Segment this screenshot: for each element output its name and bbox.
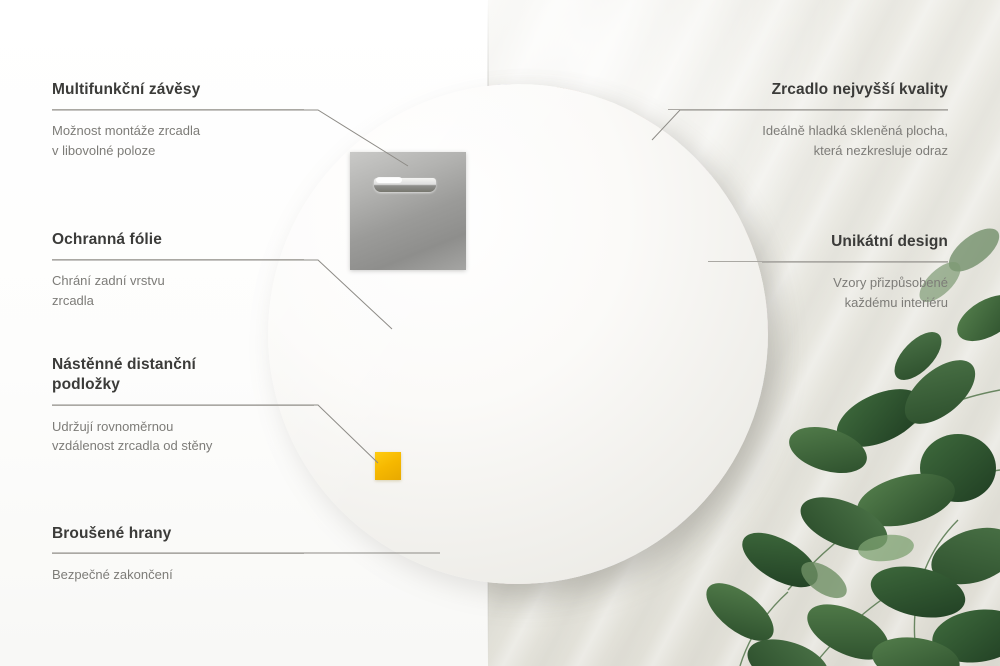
callout-title: Unikátní design bbox=[708, 232, 948, 252]
infographic-stage: Multifunkční závěsy Možnost montáže zrca… bbox=[0, 0, 1000, 666]
callout-nastenne-distancni-podlozky: Nástěnné distanční podložky Udržují rovn… bbox=[52, 355, 314, 456]
callout-ochranna-folie: Ochranná fólie Chrání zadní vrstvu zrcad… bbox=[52, 230, 304, 310]
callout-rule bbox=[52, 109, 304, 110]
callout-rule bbox=[52, 259, 304, 260]
callout-title: Ochranná fólie bbox=[52, 230, 304, 250]
callout-zrcadlo-nejvyssi-kvality: Zrcadlo nejvyšší kvality Ideálně hladká … bbox=[668, 80, 948, 160]
callout-rule bbox=[668, 109, 948, 110]
callout-rule bbox=[708, 261, 948, 262]
callout-text: Vzory přizpůsobené každému interiéru bbox=[708, 273, 948, 312]
callout-text: Udržují rovnoměrnou vzdálenost zrcadla o… bbox=[52, 417, 314, 456]
callout-title: Broušené hrany bbox=[52, 524, 304, 544]
wall-hanger-plate bbox=[350, 152, 466, 270]
callout-multifunkcni-zavesy: Multifunkční závěsy Možnost montáže zrca… bbox=[52, 80, 304, 160]
callout-title: Zrcadlo nejvyšší kvality bbox=[668, 80, 948, 100]
callout-title: Multifunkční závěsy bbox=[52, 80, 304, 100]
callout-brousene-hrany: Broušené hrany Bezpečné zakončení bbox=[52, 524, 304, 585]
callout-text: Bezpečné zakončení bbox=[52, 565, 304, 585]
callout-text: Možnost montáže zrcadla v libovolné polo… bbox=[52, 121, 304, 160]
callout-text: Ideálně hladká skleněná plocha, která ne… bbox=[668, 121, 948, 160]
callout-rule bbox=[52, 405, 314, 406]
callout-title: Nástěnné distanční podložky bbox=[52, 355, 314, 396]
callout-rule bbox=[52, 553, 304, 554]
distance-spacer-pad bbox=[375, 452, 401, 480]
callout-text: Chrání zadní vrstvu zrcadla bbox=[52, 271, 304, 310]
hanger-slot-highlight bbox=[376, 177, 402, 183]
callout-unikatni-design: Unikátní design Vzory přizpůsobené každé… bbox=[708, 232, 948, 312]
